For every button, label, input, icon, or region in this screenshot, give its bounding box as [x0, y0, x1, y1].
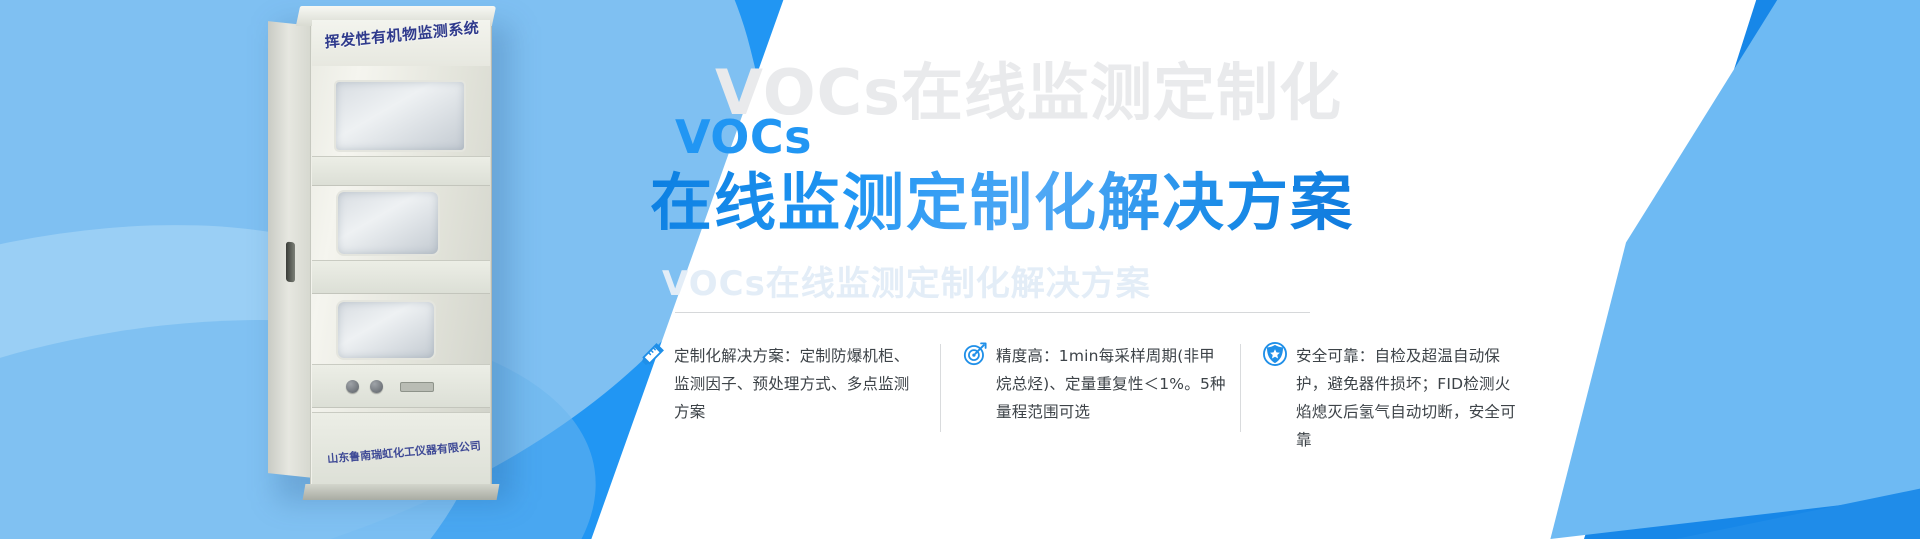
cabinet-screen-middle: [336, 190, 440, 256]
watermark-sub-text: VOCs在线监测定制化解决方案: [662, 256, 1151, 305]
cabinet-panel-upper: [312, 156, 490, 186]
feature-item-safety: 安全可靠：自检及超温自动保护，避免器件损坏；FID检测火焰熄灭后氢气自动切断，安…: [1240, 342, 1540, 454]
cabinet-knob-right: [370, 380, 383, 393]
cabinet-port-slot: [400, 382, 434, 392]
feature-text-safety: 安全可靠：自检及超温自动保护，避免器件损坏；FID检测火焰熄灭后氢气自动切断，安…: [1296, 342, 1526, 454]
cabinet-plinth: [303, 484, 500, 500]
feature-text-customization: 定制化解决方案：定制防爆机柜、监测因子、预处理方式、多点监测方案: [674, 342, 916, 426]
feature-item-precision: 精度高：1min每采样周期(非甲烷总烃)、定量重复性＜1%。5种量程范围可选: [940, 342, 1240, 426]
cabinet-knob-left: [346, 380, 359, 393]
pencil-ruler-icon: [640, 341, 666, 367]
cabinet-screen-lower: [336, 300, 436, 360]
feature-text-precision: 精度高：1min每采样周期(非甲烷总烃)、定量重复性＜1%。5种量程范围可选: [996, 342, 1226, 426]
banner-content: VOCs在线监测定制化 VOCs 在线监测定制化解决方案 VOCs在线监测定制化…: [620, 0, 1720, 539]
feature-list: 定制化解决方案：定制防爆机柜、监测因子、预处理方式、多点监测方案 精度高：1mi…: [640, 342, 1640, 454]
promo-banner: 挥发性有机物监测系统 山东鲁南瑞虹化工仪器有限公司 VOCs在线监测定制化 VO…: [0, 0, 1920, 539]
cabinet-panel-middle: [312, 260, 490, 294]
cabinet-door-handle: [286, 242, 295, 283]
content-divider: [675, 312, 1310, 313]
cabinet-window-upper: [334, 80, 466, 152]
headline-chinese: 在线监测定制化解决方案: [650, 152, 1354, 242]
shield-star-icon: [1262, 341, 1288, 367]
feature-item-customization: 定制化解决方案：定制防爆机柜、监测因子、预处理方式、多点监测方案: [640, 342, 940, 426]
target-arrow-icon: [962, 341, 988, 367]
product-cabinet-image: 挥发性有机物监测系统 山东鲁南瑞虹化工仪器有限公司: [268, 4, 518, 504]
